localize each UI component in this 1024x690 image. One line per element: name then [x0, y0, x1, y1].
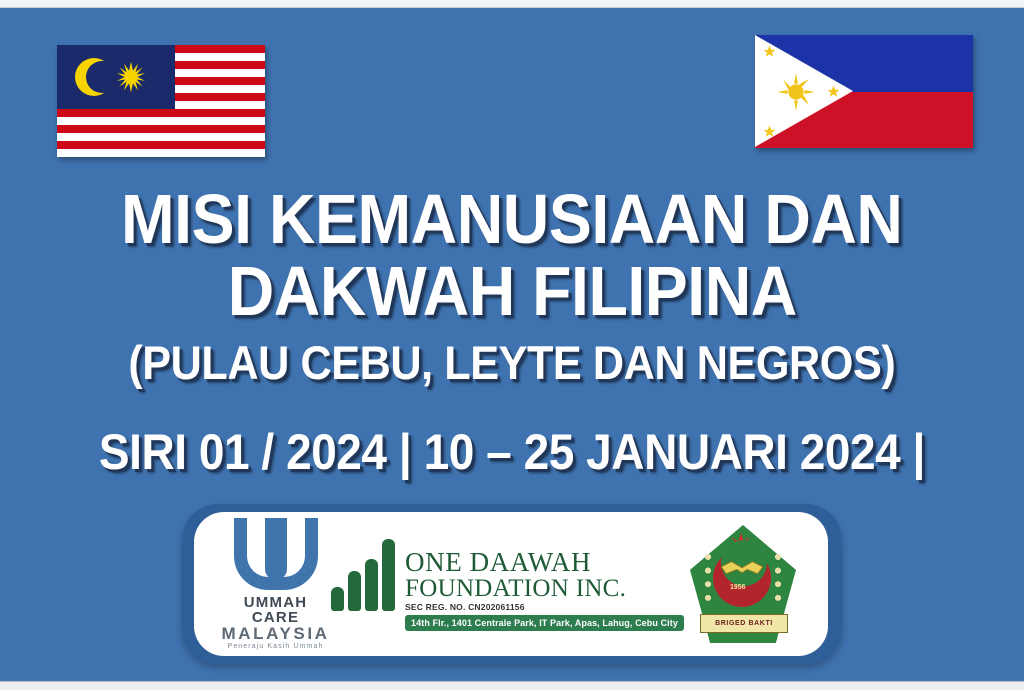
bar-chart-icon [331, 533, 395, 635]
title-text-2: DAKWAH FILIPINA [227, 258, 796, 325]
crescent-icon [75, 58, 113, 96]
one-daawah-registration: SEC REG. NO. CN202061156 [405, 602, 684, 612]
ummah-care-line2: MALAYSIA [220, 625, 331, 642]
star-icon [763, 45, 776, 58]
malaysia-flag-canton [57, 45, 175, 109]
date-text: SIRI 01 / 2024 | 10 – 25 JANUARI 2024 | [99, 428, 925, 476]
u-inner-shape [265, 518, 287, 580]
malaysia-flag [57, 45, 265, 157]
ummah-care-u-mark-icon [234, 518, 318, 594]
ummah-care-line1: UMMAH CARE [220, 595, 331, 626]
philippines-flag [755, 35, 973, 148]
emblem-banner-text: BRIGED BAKTI [700, 614, 788, 633]
bar-3 [365, 559, 378, 611]
page-title-line-2: DAKWAH FILIPINA [0, 258, 1024, 325]
wreath-right-icon [768, 547, 788, 609]
title-text-1: MISI KEMANUSIAAN DAN [121, 186, 902, 253]
one-daawah-address: 14th Flr., 1401 Centrale Park, IT Park, … [405, 615, 684, 631]
sun-icon [777, 73, 815, 111]
handshake-icon [720, 559, 764, 579]
star-icon [827, 85, 840, 98]
bottom-border-line [0, 681, 1024, 690]
star-icon [115, 61, 147, 93]
bar-2 [348, 571, 361, 611]
one-daawah-line2: FOUNDATION INC. [405, 576, 684, 602]
ummah-care-malaysia-logo: UMMAH CARE MALAYSIA Peneraju Kasih Ummah [220, 518, 331, 651]
ummah-care-tagline: Peneraju Kasih Ummah [220, 643, 331, 650]
one-daawah-text-block: ONE DAAWAH FOUNDATION INC. SEC REG. NO. … [405, 549, 684, 636]
page-subtitle: (PULAU CEBU, LEYTE DAN NEGROS) [0, 340, 1024, 385]
one-daawah-foundation-logo: ONE DAAWAH FOUNDATION INC. SEC REG. NO. … [331, 533, 684, 635]
poster-canvas: MISI KEMANUSIAAN DAN DAKWAH FILIPINA (PU… [0, 0, 1024, 690]
subtitle-text: (PULAU CEBU, LEYTE DAN NEGROS) [129, 340, 896, 385]
event-date-line: SIRI 01 / 2024 | 10 – 25 JANUARI 2024 | [0, 428, 1024, 476]
logo-bar: UMMAH CARE MALAYSIA Peneraju Kasih Ummah… [194, 512, 828, 656]
briged-bakti-emblem: 1956 BRIGED BAKTI [684, 521, 802, 647]
bar-1 [331, 587, 344, 611]
emblem-year: 1956 [730, 584, 746, 591]
page-title-line-1: MISI KEMANUSIAAN DAN [0, 186, 1024, 253]
top-border-line [0, 0, 1024, 8]
star-icon [763, 125, 776, 138]
bar-4 [382, 539, 395, 611]
one-daawah-line1: ONE DAAWAH [405, 549, 684, 576]
